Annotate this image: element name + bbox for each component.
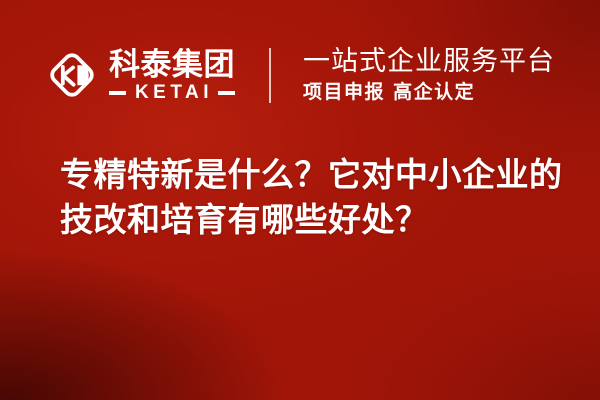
ketai-diamond-kd-logo-icon [45, 48, 99, 102]
wordmark-dash-left [109, 91, 126, 95]
banner-canvas: 科泰集团 KETAI 一站式企业服务平台 项目申报 高企认定 专精特新是什么？它… [0, 0, 600, 400]
page-title-line-2: 技改和培育有哪些好处？ [60, 197, 560, 242]
header-divider [269, 48, 271, 103]
page-title: 专精特新是什么？它对中小企业的 技改和培育有哪些好处？ [60, 152, 560, 242]
company-name-en: KETAI [131, 83, 213, 103]
wordmark-dash-right [218, 91, 235, 95]
wordmark-en-row: KETAI [109, 83, 235, 103]
tagline-sub: 项目申报 高企认定 [303, 80, 555, 104]
wordmark: 科泰集团 KETAI [109, 47, 235, 103]
brand-lockup[interactable]: 科泰集团 KETAI 一站式企业服务平台 项目申报 高企认定 [45, 47, 555, 104]
company-name-cn: 科泰集团 [109, 49, 235, 82]
page-title-line-1: 专精特新是什么？它对中小企业的 [60, 152, 560, 197]
banner-header: 科泰集团 KETAI 一站式企业服务平台 项目申报 高企认定 [0, 34, 600, 116]
tagline-block: 一站式企业服务平台 项目申报 高企认定 [303, 47, 555, 104]
tagline-main: 一站式企业服务平台 [303, 47, 555, 77]
